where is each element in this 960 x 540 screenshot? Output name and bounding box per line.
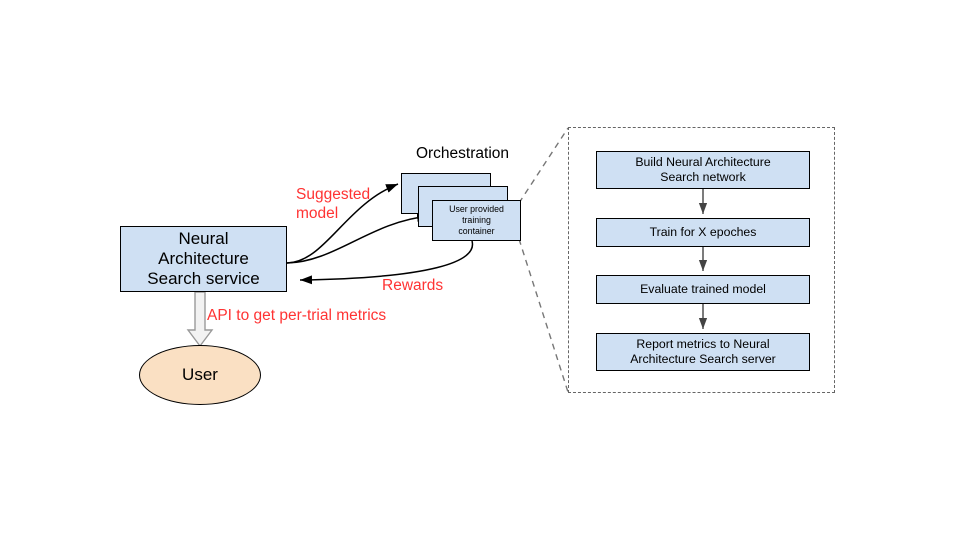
nas-service-label: Neural Architecture Search service xyxy=(147,229,259,289)
step-evaluate-model-label: Evaluate trained model xyxy=(640,282,766,297)
orchestration-title-label: Orchestration xyxy=(416,145,509,163)
user-node[interactable]: User xyxy=(139,345,261,405)
annotation-suggested-model: Suggested model xyxy=(296,185,416,223)
step-evaluate-model[interactable]: Evaluate trained model xyxy=(596,275,810,304)
diagram-canvas: Neural Architecture Search service User … xyxy=(0,0,960,540)
orchestration-title: Orchestration xyxy=(400,143,525,165)
user-label: User xyxy=(182,365,218,385)
orchestration-container-front[interactable]: User provided training container xyxy=(432,200,521,241)
user-provided-training-container-label: User provided training container xyxy=(449,204,504,237)
annotation-rewards: Rewards xyxy=(382,276,443,295)
step-build-network-label: Build Neural Architecture Search network xyxy=(635,155,770,185)
step-build-network[interactable]: Build Neural Architecture Search network xyxy=(596,151,810,189)
expansion-line-bottom xyxy=(519,239,568,392)
step-report-metrics[interactable]: Report metrics to Neural Architecture Se… xyxy=(596,333,810,371)
annotation-api-metrics: API to get per-trial metrics xyxy=(207,306,386,325)
step-train-epochs-label: Train for X epoches xyxy=(650,225,757,240)
arrow-rewards xyxy=(300,241,472,280)
neural-architecture-search-service-node[interactable]: Neural Architecture Search service xyxy=(120,226,287,292)
expansion-line-top xyxy=(519,128,568,203)
step-train-epochs[interactable]: Train for X epoches xyxy=(596,218,810,247)
step-report-metrics-label: Report metrics to Neural Architecture Se… xyxy=(630,337,776,367)
arrow-suggested-model-secondary xyxy=(287,216,429,263)
